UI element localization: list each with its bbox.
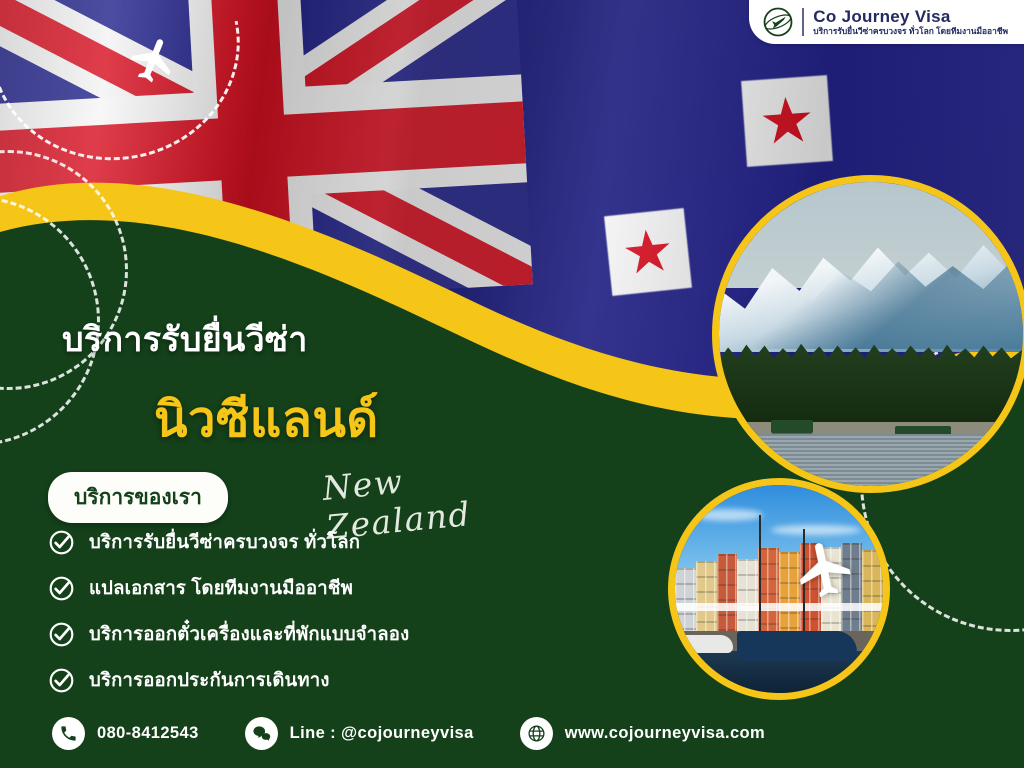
list-item: แปลเอกสาร โดยทีมงานมืออาชีพ [48,574,409,603]
services-badge: บริการของเรา [48,472,228,523]
check-circle-icon [48,667,75,694]
brand-name: Co Journey Visa [813,8,1008,25]
airplane-icon [787,531,863,607]
services-list: บริการรับยื่นวีซ่าครบวงจร ทั่วโลก แปลเอก… [48,528,409,695]
contact-line[interactable]: Line : @cojourneyvisa [245,717,474,750]
harbour-building [862,550,883,630]
harbour-boat-main [737,631,857,661]
harbour-photo-circle [668,478,890,700]
photo-lodge-left [771,420,813,433]
contact-phone-text: 080-8412543 [97,724,199,743]
harbour-boat-small [681,635,733,653]
photo-pine-forest [719,340,1023,431]
headline-country: นิวซีแลนด์ [154,380,379,458]
harbour-cloud [693,509,763,521]
boat-mast [759,515,761,635]
colorful-harbour-boats-photo [675,485,883,693]
list-item: บริการออกตั๋วเครื่องและที่พักแบบจำลอง [48,620,409,649]
check-circle-icon [48,575,75,602]
contact-website-text: www.cojourneyvisa.com [565,724,765,743]
list-item-label: บริการรับยื่นวีซ่าครบวงจร ทั่วโลก [89,528,360,557]
check-circle-icon [48,621,75,648]
list-item: บริการออกประกันการเดินทาง [48,666,409,695]
check-circle-icon [48,529,75,556]
headline-eyebrow: บริการรับยื่นวีซ่า [62,312,379,366]
line-chat-icon [245,717,278,750]
list-item: บริการรับยื่นวีซ่าครบวงจร ทั่วโลก [48,528,409,557]
logo-divider [802,8,804,36]
snow-mountains-forest-lake-photo [719,182,1023,486]
list-item-label: แปลเอกสาร โดยทีมงานมืออาชีพ [89,574,353,603]
headline-block: บริการรับยื่นวีซ่า นิวซีแลนด์ New Zealan… [62,312,379,458]
contact-line-text: Line : @cojourneyvisa [290,724,474,743]
mountain-photo-circle [712,175,1024,493]
harbour-building [696,561,717,631]
globe-plane-logo-icon [763,7,793,37]
harbour-building [675,568,696,631]
phone-icon [52,717,85,750]
list-item-label: บริการออกตั๋วเครื่องและที่พักแบบจำลอง [89,620,409,649]
harbour-awnings [675,603,883,612]
visa-promo-poster: Co Journey Visa บริการรับยื่นวีซ่าครบวงจ… [0,0,1024,768]
harbour-building [737,559,758,631]
harbour-building [717,554,738,631]
contact-website[interactable]: www.cojourneyvisa.com [520,717,765,750]
globe-icon [520,717,553,750]
brand-tagline: บริการรับยื่นวีซ่าครบวงจร ทั่วโลก โดยทีม… [813,27,1008,36]
brand-logo[interactable]: Co Journey Visa บริการรับยื่นวีซ่าครบวงจ… [749,0,1024,44]
list-item-label: บริการออกประกันการเดินทาง [89,666,330,695]
harbour-building [758,548,779,630]
contact-phone[interactable]: 080-8412543 [52,717,199,750]
contact-bar: 080-8412543 Line : @cojourneyvisa www.co… [52,717,765,750]
